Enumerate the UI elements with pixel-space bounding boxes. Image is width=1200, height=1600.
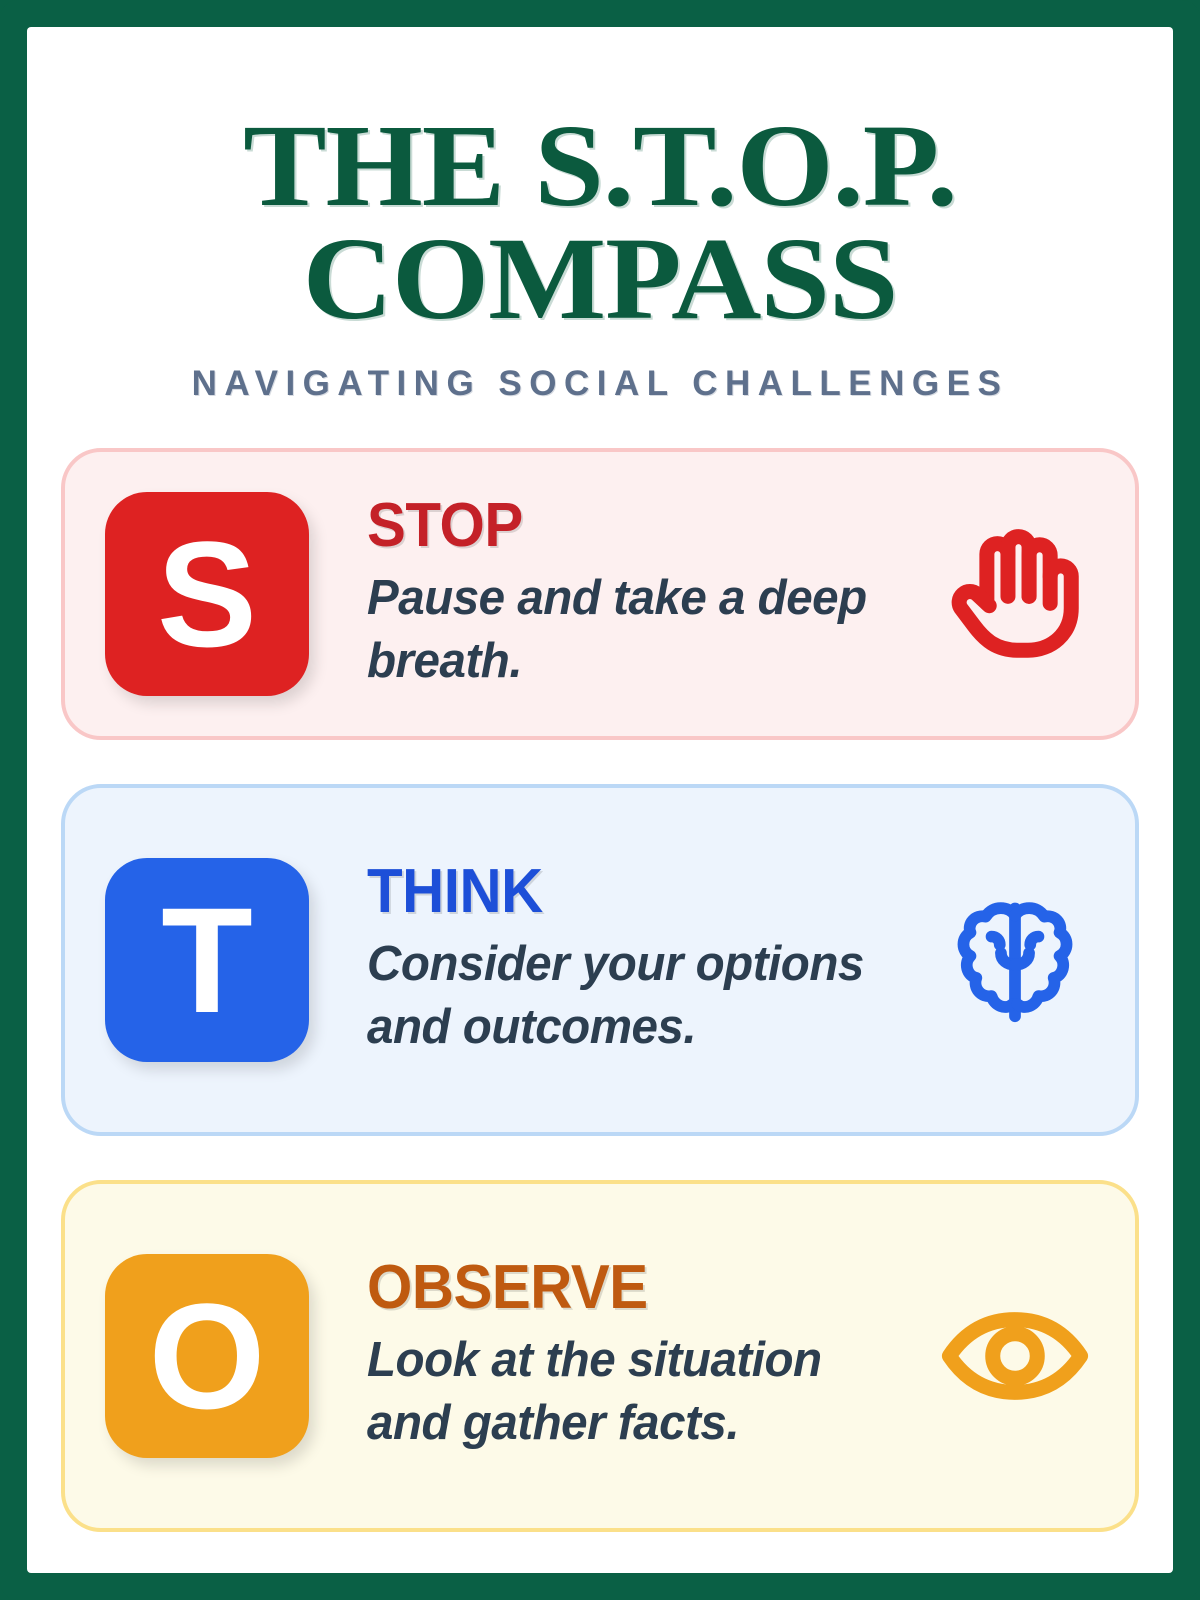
card-text-stop: STOP Pause and take a deep breath. [309, 494, 935, 693]
card-heading-stop: STOP [367, 494, 892, 557]
card-description-observe: Look at the situation and gather facts. [367, 1329, 908, 1454]
card-heading-observe: OBSERVE [367, 1256, 892, 1319]
card-text-observe: OBSERVE Look at the situation and gather… [309, 1256, 935, 1455]
card-text-think: THINK Consider your options and outcomes… [309, 860, 935, 1059]
card-think[interactable]: T THINK Consider your options and outcom… [61, 784, 1139, 1136]
card-observe[interactable]: O OBSERVE Look at the situation and gath… [61, 1180, 1139, 1532]
poster-sheet: THE S.T.O.P. COMPASS NAVIGATING SOCIAL C… [27, 27, 1173, 1573]
raised-hand-icon [935, 514, 1095, 674]
card-heading-think: THINK [367, 860, 892, 923]
card-description-stop: Pause and take a deep breath. [367, 567, 908, 692]
poster-header: THE S.T.O.P. COMPASS NAVIGATING SOCIAL C… [27, 27, 1173, 404]
brain-icon [935, 880, 1095, 1040]
card-list: S STOP Pause and take a deep breath. T [27, 448, 1173, 1532]
poster-frame: THE S.T.O.P. COMPASS NAVIGATING SOCIAL C… [0, 0, 1200, 1600]
card-description-think: Consider your options and outcomes. [367, 933, 908, 1058]
eye-icon [935, 1276, 1095, 1436]
page-title-line-1: THE S.T.O.P. [197, 109, 1003, 222]
badge-letter-s: S [105, 492, 309, 696]
badge-letter-o: O [105, 1254, 309, 1458]
badge-letter-t: T [105, 858, 309, 1062]
page-title: THE S.T.O.P. COMPASS [197, 109, 1003, 336]
card-stop[interactable]: S STOP Pause and take a deep breath. [61, 448, 1139, 740]
page-title-line-2: COMPASS [197, 222, 1003, 335]
page-subtitle: NAVIGATING SOCIAL CHALLENGES [27, 364, 1173, 404]
